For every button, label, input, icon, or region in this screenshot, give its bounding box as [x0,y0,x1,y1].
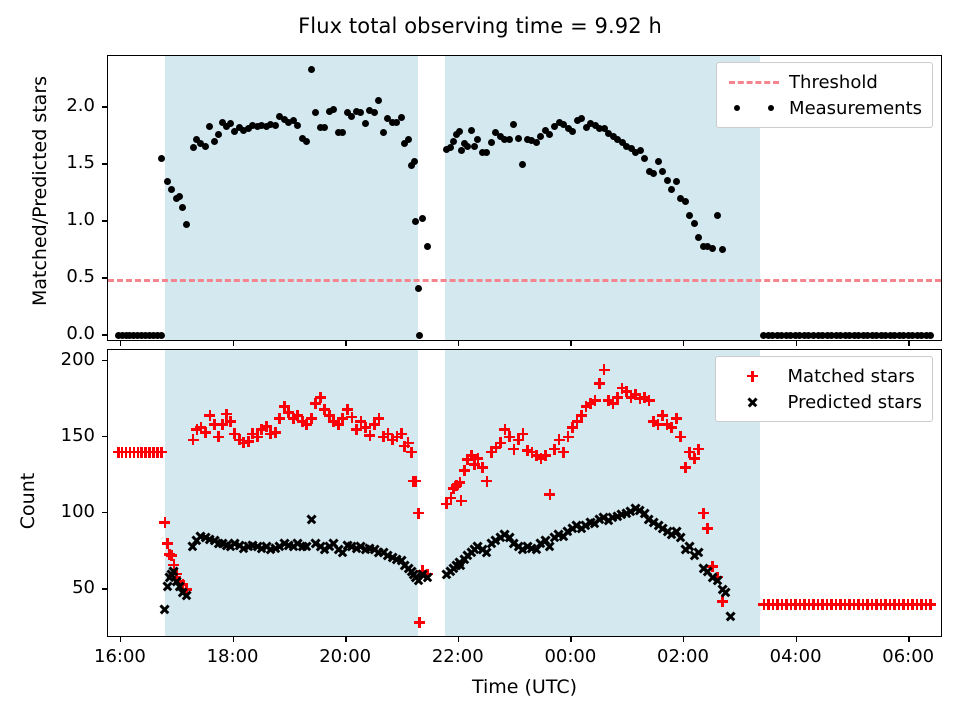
legend-label-predicted-stars: Predicted stars [782,392,922,413]
x-tick-mark [796,341,797,346]
plus-marker-icon [724,363,782,389]
chart-title: Flux total observing time = 9.92 h [0,14,960,38]
legend-count-panel: Matched stars Predicted stars [715,356,933,422]
shaded-region [445,350,760,636]
threshold-line [108,279,941,282]
data-point [650,170,657,177]
data-point [424,243,431,250]
data-point [215,131,222,138]
measurement-dot-icon [725,95,783,121]
data-point [637,147,644,154]
x-tick-label: 16:00 [70,646,170,667]
data-point [695,234,702,241]
y-tick-label: 0.0 [0,323,95,344]
y-tick-label: 50 [0,577,95,598]
legend-label-matched-stars: Matched stars [782,366,915,387]
data-point [719,246,726,253]
y-tick-label: 1.5 [0,152,95,173]
data-point [691,220,698,227]
x-tick-label: 02:00 [633,646,733,667]
data-point [405,136,412,143]
data-point [362,120,369,127]
x-tick-mark [233,341,234,346]
x-tick-mark [345,637,346,642]
ratio-panel: Threshold Measurements [107,55,942,341]
data-point [927,332,934,339]
y-tick-label: 100 [0,501,95,522]
legend-item-threshold: Threshold [725,69,922,95]
x-tick-label: 18:00 [183,646,283,667]
data-point [398,114,405,121]
data-point [488,139,495,146]
data-point [202,143,209,150]
x-tick-mark [120,341,121,346]
data-point [569,128,576,135]
x-tick-label: 20:00 [295,646,395,667]
data-point [709,245,716,252]
x-tick-label: 22:00 [408,646,508,667]
x-tick-mark [683,341,684,346]
data-point [380,129,387,136]
data-point [673,178,680,185]
y-tick-label: 150 [0,425,95,446]
data-point [515,135,522,142]
x-tick-mark [683,637,684,642]
y-tick-mark [102,512,107,513]
x-tick-mark [120,637,121,642]
y-tick-mark [102,277,107,278]
data-point [190,144,197,151]
data-point [416,332,423,339]
x-tick-mark [458,341,459,346]
data-point [158,332,165,339]
data-point [415,285,422,292]
figure-canvas: Flux total observing time = 9.92 h Match… [0,0,960,720]
x-tick-label: 00:00 [520,646,620,667]
x-tick-label: 06:00 [858,646,958,667]
y-tick-label: 200 [0,349,95,370]
y-axis-label-ratio: Matched/Predicted stars [29,41,51,341]
legend-label-measurements: Measurements [783,98,922,119]
threshold-dash-icon [725,69,783,95]
data-point [272,122,279,129]
legend-ratio-panel: Threshold Measurements [716,62,933,128]
y-tick-label: 1.0 [0,209,95,230]
y-tick-mark [102,436,107,437]
y-tick-mark [102,163,107,164]
y-tick-mark [102,334,107,335]
y-tick-label: 2.0 [0,95,95,116]
x-tick-mark [908,341,909,346]
data-point [468,127,475,134]
y-tick-mark [102,588,107,589]
data-point [308,66,315,73]
data-point [176,193,183,200]
data-point [668,186,675,193]
data-point [168,186,175,193]
y-tick-mark [102,360,107,361]
x-marker-icon [724,389,782,415]
x-tick-mark [908,637,909,642]
y-tick-label: 0.5 [0,266,95,287]
x-tick-mark [233,637,234,642]
y-tick-mark [102,106,107,107]
data-point [419,215,426,222]
data-point [664,177,671,184]
legend-item-measurements: Measurements [725,95,922,121]
legend-item-matched-stars: Matched stars [724,363,922,389]
shaded-region [445,56,760,340]
data-point [682,198,689,205]
data-point [506,136,513,143]
data-point [211,138,218,145]
legend-item-predicted-stars: Predicted stars [724,389,922,415]
data-point [659,168,666,175]
data-point [450,138,457,145]
data-point [533,139,540,146]
data-point [164,178,171,185]
data-point [471,143,478,150]
x-tick-mark [345,341,346,346]
x-axis-label: Time (UTC) [107,676,942,698]
y-tick-mark [102,220,107,221]
count-panel: Matched stars Predicted stars [107,349,942,637]
x-tick-mark [570,637,571,642]
shaded-region [165,350,418,636]
x-tick-mark [796,637,797,642]
x-tick-label: 04:00 [746,646,846,667]
x-tick-mark [458,637,459,642]
data-point [227,120,234,127]
legend-label-threshold: Threshold [783,72,878,93]
data-point [158,155,165,162]
x-tick-mark [570,341,571,346]
